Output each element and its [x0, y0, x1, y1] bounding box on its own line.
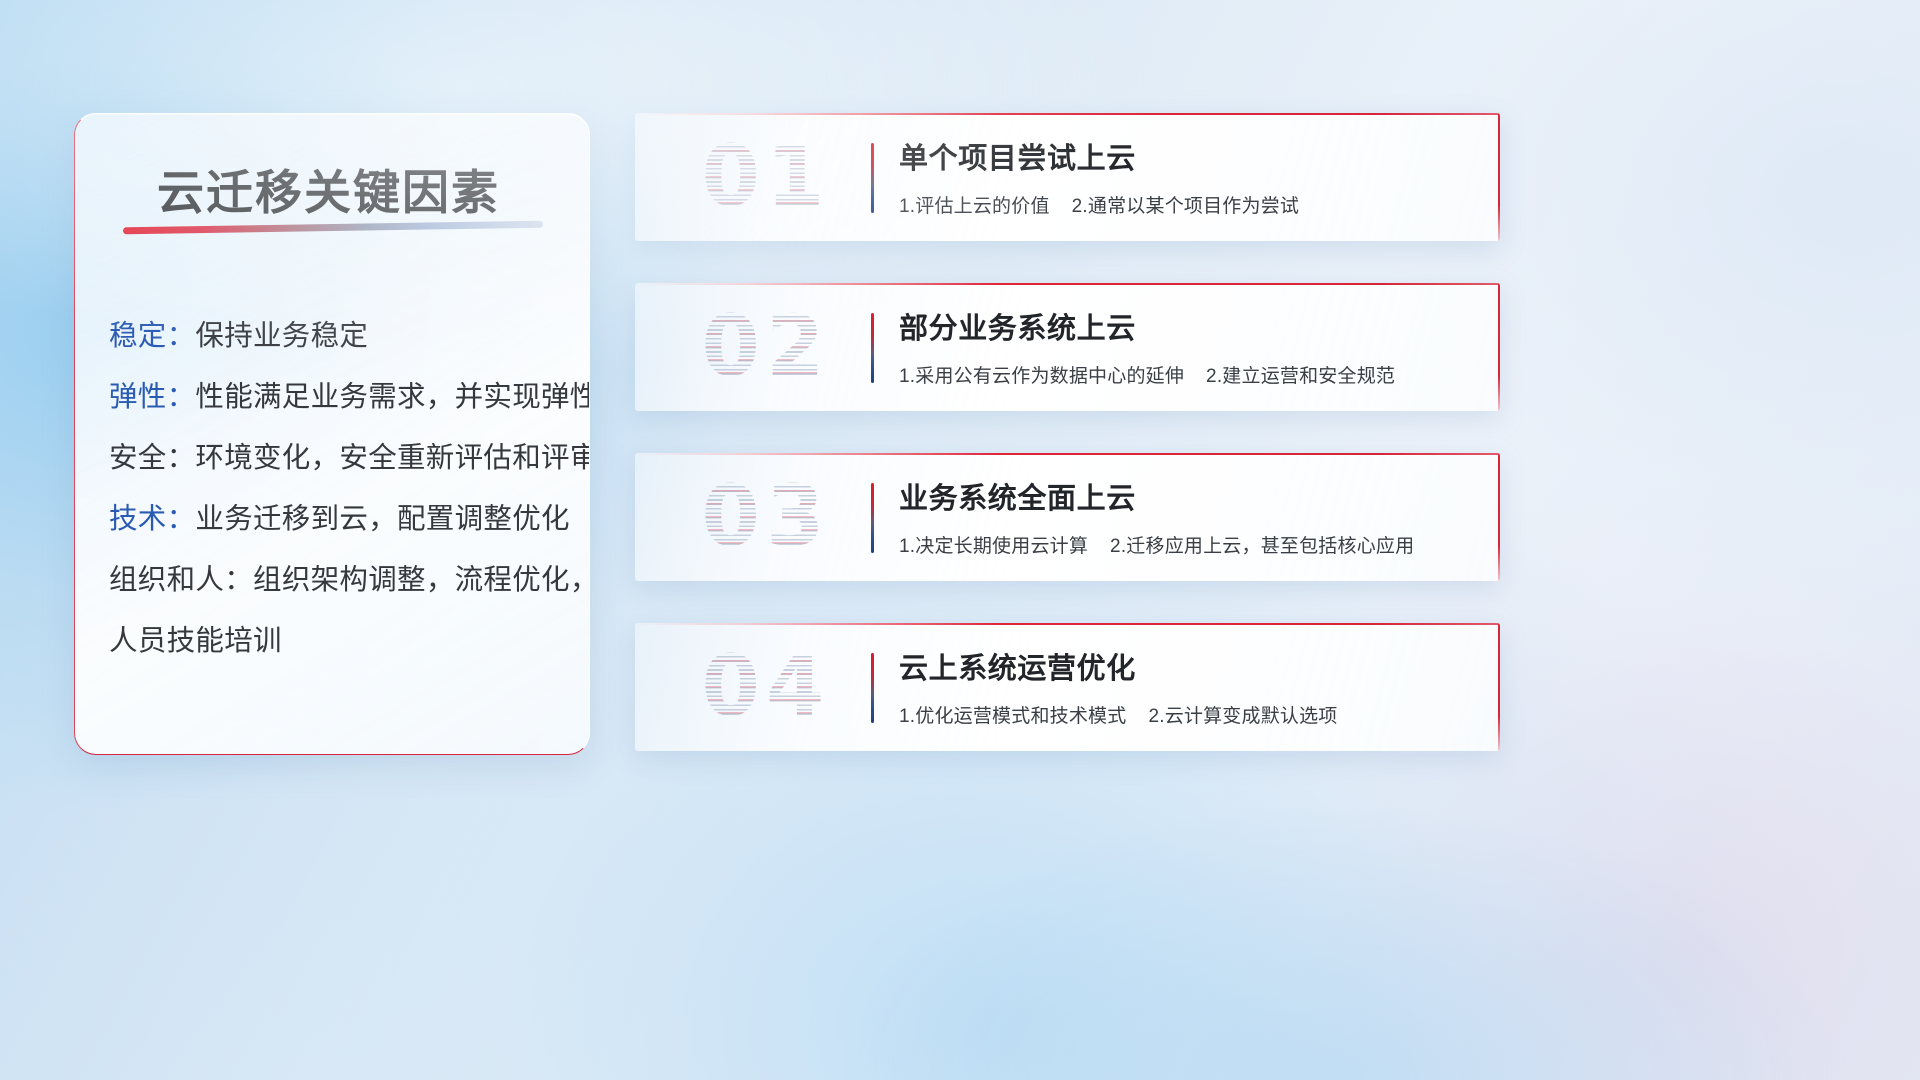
factor-label: 组织和人：	[109, 564, 253, 596]
stage-detail-first: 1.评估上云的价值	[899, 196, 1050, 217]
list-item: 人员技能培训	[109, 611, 567, 672]
factor-label: 技术：	[109, 503, 195, 535]
stage-accent-bar	[871, 483, 874, 553]
stage-number-watermark-tint: 04	[671, 634, 861, 738]
list-item: 组织和人：组织架构调整，流程优化，	[109, 550, 567, 611]
stage-text-block: 部分业务系统上云 1.采用公有云作为数据中心的延伸2.建立运营和安全规范	[899, 305, 1476, 388]
factor-label: 弹性：	[109, 381, 195, 413]
factor-value: 人员技能培训	[109, 625, 282, 657]
key-factors-panel: 云迁移关键因素 稳定：保持业务稳定 弹性：性能满足业务需求，并实现弹性 安全：环…	[74, 113, 590, 755]
stage-detail-first: 1.优化运营模式和技术模式	[899, 706, 1126, 727]
list-item: 技术：业务迁移到云，配置调整优化	[109, 489, 567, 550]
stage-accent-bar	[871, 143, 874, 213]
stage-detail: 1.采用公有云作为数据中心的延伸2.建立运营和安全规范	[899, 361, 1476, 388]
stage-card[interactable]: 01 01 单个项目尝试上云 1.评估上云的价值2.通常以某个项目作为尝试	[635, 113, 1500, 241]
stage-detail-second: 2.云计算变成默认选项	[1148, 706, 1337, 727]
key-factors-list: 稳定：保持业务稳定 弹性：性能满足业务需求，并实现弹性 安全：环境变化，安全重新…	[109, 306, 567, 672]
migration-stage-cards: 01 01 单个项目尝试上云 1.评估上云的价值2.通常以某个项目作为尝试 02…	[635, 113, 1500, 793]
factor-value: 保持业务稳定	[195, 320, 368, 352]
stage-card[interactable]: 04 04 云上系统运营优化 1.优化运营模式和技术模式2.云计算变成默认选项	[635, 623, 1500, 751]
list-item: 稳定：保持业务稳定	[109, 306, 567, 367]
stage-detail-first: 1.决定长期使用云计算	[899, 536, 1088, 557]
slide-canvas: 云迁移关键因素 稳定：保持业务稳定 弹性：性能满足业务需求，并实现弹性 安全：环…	[0, 0, 1920, 1080]
stage-detail: 1.优化运营模式和技术模式2.云计算变成默认选项	[899, 701, 1476, 728]
stage-number-watermark-tint: 03	[671, 464, 861, 568]
stage-detail-second: 2.迁移应用上云，甚至包括核心应用	[1110, 536, 1414, 557]
stage-heading: 单个项目尝试上云	[899, 135, 1476, 177]
factor-label: 稳定：	[109, 320, 195, 352]
stage-heading: 业务系统全面上云	[899, 475, 1476, 517]
stage-detail-second: 2.建立运营和安全规范	[1206, 366, 1395, 387]
stage-heading: 部分业务系统上云	[899, 305, 1476, 347]
stage-number-watermark-tint: 01	[671, 124, 861, 228]
stage-accent-bar	[871, 653, 874, 723]
stage-detail: 1.评估上云的价值2.通常以某个项目作为尝试	[899, 191, 1476, 218]
stage-heading: 云上系统运营优化	[899, 645, 1476, 687]
stage-detail-first: 1.采用公有云作为数据中心的延伸	[899, 366, 1184, 387]
stage-text-block: 云上系统运营优化 1.优化运营模式和技术模式2.云计算变成默认选项	[899, 645, 1476, 728]
factor-value: 业务迁移到云，配置调整优化	[195, 503, 569, 535]
stage-text-block: 单个项目尝试上云 1.评估上云的价值2.通常以某个项目作为尝试	[899, 135, 1476, 218]
stage-card[interactable]: 02 02 部分业务系统上云 1.采用公有云作为数据中心的延伸2.建立运营和安全…	[635, 283, 1500, 411]
stage-detail-second: 2.通常以某个项目作为尝试	[1072, 196, 1299, 217]
stage-number-watermark-tint: 02	[671, 294, 861, 398]
factor-label: 安全：	[109, 442, 195, 474]
factor-value: 性能满足业务需求，并实现弹性	[195, 381, 590, 413]
page-title: 云迁移关键因素	[157, 154, 500, 223]
stage-detail: 1.决定长期使用云计算2.迁移应用上云，甚至包括核心应用	[899, 531, 1476, 558]
factor-value: 组织架构调整，流程优化，	[253, 564, 590, 596]
factor-value: 环境变化，安全重新评估和评审	[195, 442, 590, 474]
stage-accent-bar	[871, 313, 874, 383]
list-item: 弹性：性能满足业务需求，并实现弹性	[109, 367, 567, 428]
list-item: 安全：环境变化，安全重新评估和评审	[109, 428, 567, 489]
stage-card[interactable]: 03 03 业务系统全面上云 1.决定长期使用云计算2.迁移应用上云，甚至包括核…	[635, 453, 1500, 581]
stage-text-block: 业务系统全面上云 1.决定长期使用云计算2.迁移应用上云，甚至包括核心应用	[899, 475, 1476, 558]
